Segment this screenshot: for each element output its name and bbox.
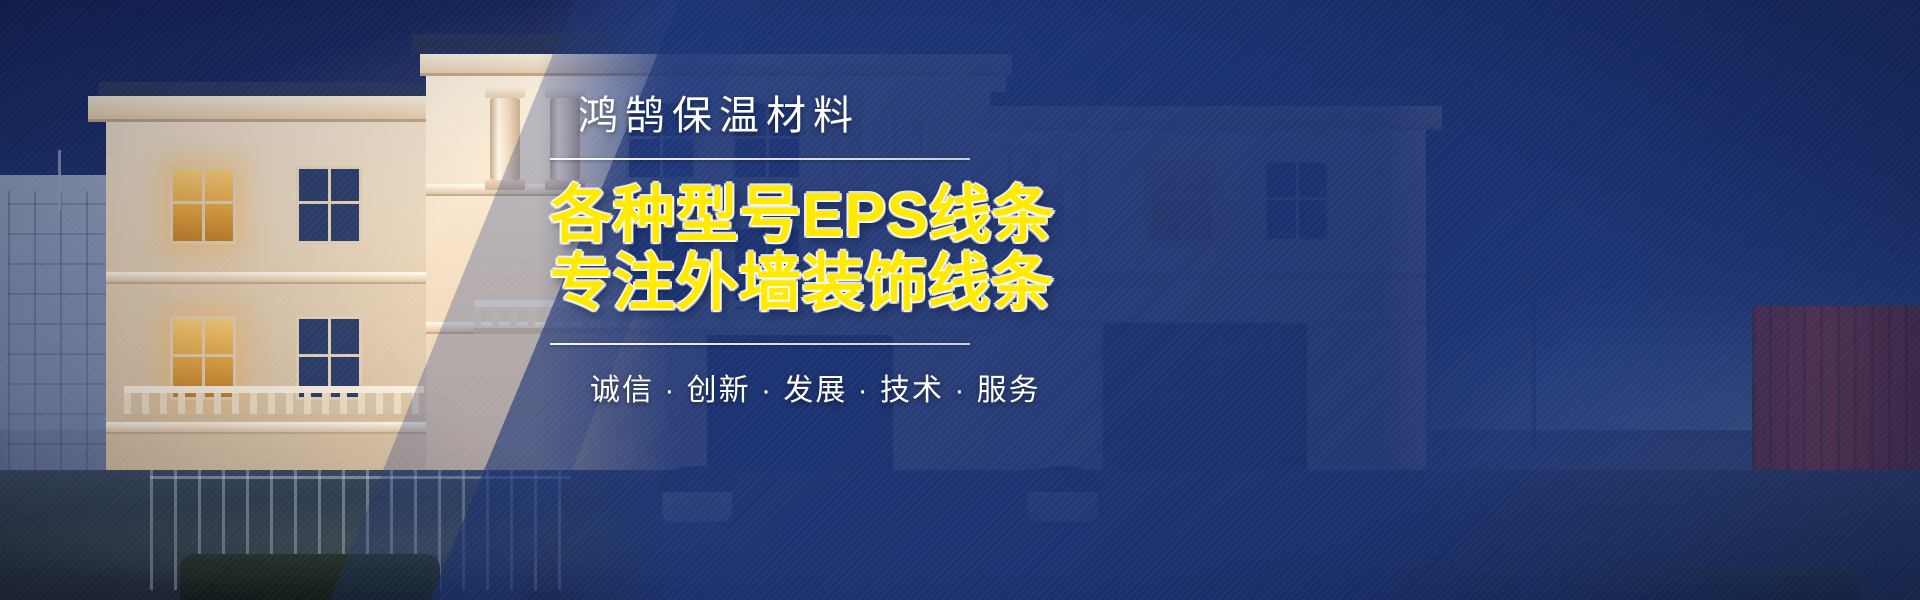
headline-line-2: 专注外墙装饰线条	[550, 250, 1310, 318]
banner-copy: 鸿鹄保温材料 各种型号EPS线条 专注外墙装饰线条 诚信 · 创新 · 发展 ·…	[550, 96, 1310, 409]
headline: 各种型号EPS线条 专注外墙装饰线条	[550, 182, 1310, 317]
tagline: 诚信 · 创新 · 发展 · 技术 · 服务	[550, 365, 1310, 409]
headline-line-1: 各种型号EPS线条	[550, 182, 1310, 250]
brand-name: 鸿鹄保温材料	[550, 96, 1310, 136]
divider-bottom	[550, 343, 970, 345]
divider-bottom-wrap	[550, 343, 1310, 345]
promo-banner: 鸿鹄保温材料 各种型号EPS线条 专注外墙装饰线条 诚信 · 创新 · 发展 ·…	[0, 0, 1920, 600]
divider-top	[550, 158, 970, 160]
